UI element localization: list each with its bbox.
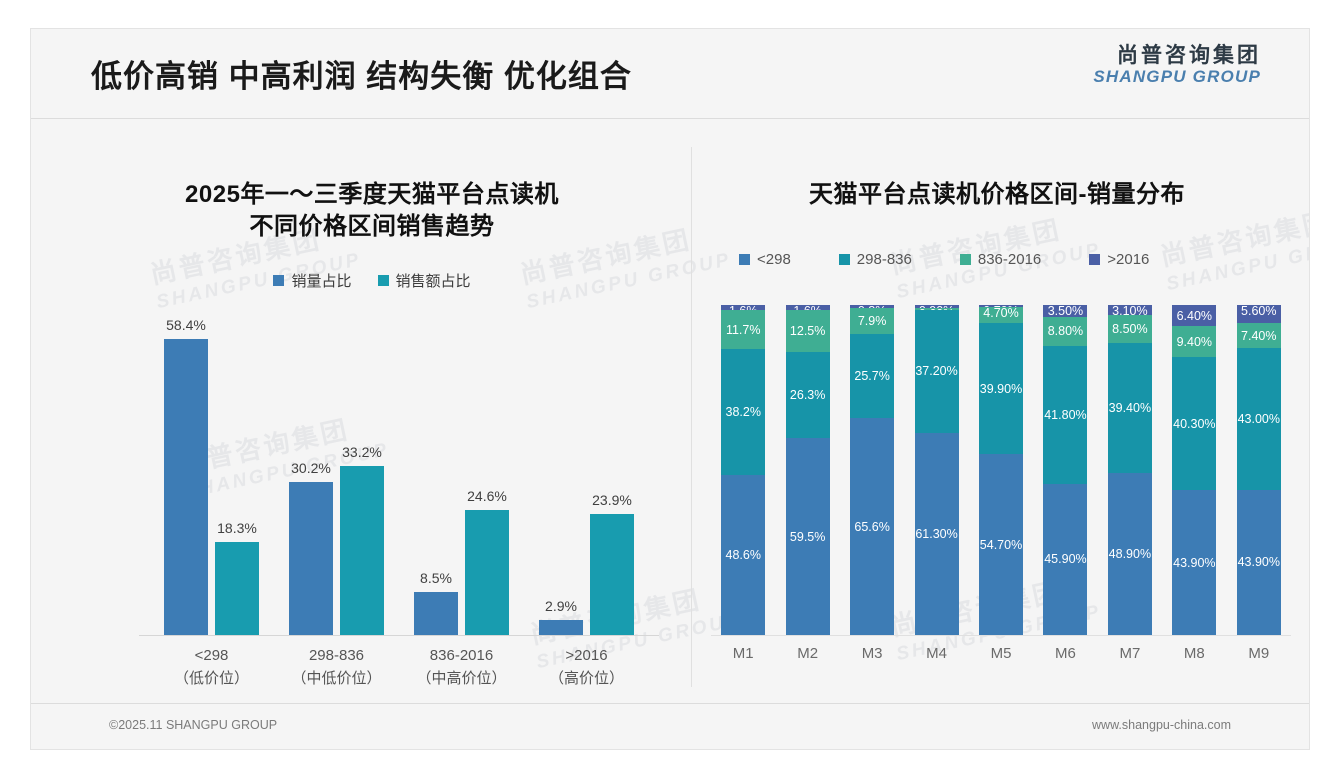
stack-segment-label: 4.70% bbox=[983, 306, 1018, 320]
legend-item[interactable]: 销量占比 bbox=[273, 270, 351, 291]
legend-label: 298-836 bbox=[857, 251, 912, 268]
stacked-bar-column[interactable]: 0.8%7.9%25.7%65.6% bbox=[850, 305, 894, 635]
legend-label: >2016 bbox=[1107, 251, 1149, 268]
brand-logo: 尚普咨询集团 SHANGPU GROUP bbox=[1093, 45, 1261, 86]
legend-swatch-icon bbox=[739, 254, 750, 265]
stack-segment-label: 43.00% bbox=[1238, 412, 1280, 426]
right-chart-panel: 天猫平台点读机价格区间-销量分布 <298298-836836-2016>201… bbox=[697, 125, 1297, 715]
x-axis-month-label: M2 bbox=[786, 645, 830, 662]
stacked-bar-column[interactable]: 1.6%11.7%38.2%48.6% bbox=[721, 305, 765, 635]
bar-group: 8.5%24.6% bbox=[399, 305, 524, 635]
stacked-bar-column[interactable]: 3.50%8.80%41.80%45.90% bbox=[1043, 305, 1087, 635]
legend-item[interactable]: <298 bbox=[739, 251, 791, 268]
stack-segment-label: 37.20% bbox=[915, 364, 957, 378]
bar-rect[interactable] bbox=[539, 620, 583, 635]
stack-segment[interactable]: 48.6% bbox=[721, 475, 765, 635]
bar-column[interactable]: 18.3% bbox=[215, 305, 259, 635]
stack-container: 3.50%8.80%41.80%45.90% bbox=[1043, 305, 1087, 635]
x-axis-month-label: M3 bbox=[850, 645, 894, 662]
legend-label: 836-2016 bbox=[978, 251, 1041, 268]
legend-swatch-icon bbox=[839, 254, 850, 265]
stack-segment[interactable]: 54.70% bbox=[979, 454, 1023, 635]
slide-canvas: 尚普咨询集团 SHANGPU GROUP 尚普咨询集团 SHANGPU GROU… bbox=[30, 28, 1310, 750]
stack-segment[interactable]: 8.50% bbox=[1108, 315, 1152, 343]
bar-column[interactable]: 8.5% bbox=[414, 305, 458, 635]
bar-value-label: 23.9% bbox=[592, 492, 632, 508]
stack-segment-label: 61.30% bbox=[915, 527, 957, 541]
stack-segment-label: 48.90% bbox=[1109, 547, 1151, 561]
x-axis-month-label: M4 bbox=[915, 645, 959, 662]
stack-segment[interactable]: 59.5% bbox=[786, 438, 830, 635]
x-axis-line bbox=[139, 635, 659, 636]
stack-segment[interactable]: 41.80% bbox=[1043, 346, 1087, 484]
stack-segment[interactable]: 3.50% bbox=[1043, 305, 1087, 317]
stack-segment-label: 7.40% bbox=[1241, 329, 1276, 343]
stack-segment[interactable]: 43.90% bbox=[1172, 490, 1216, 635]
slide-footer: ©2025.11 SHANGPU GROUP www.shangpu-china… bbox=[31, 703, 1309, 749]
stack-segment-label: 48.6% bbox=[725, 548, 760, 562]
x-axis-month-label: M7 bbox=[1108, 645, 1152, 662]
left-chart-panel: 2025年一～三季度天猫平台点读机 不同价格区间销售趋势 销量占比销售额占比 5… bbox=[57, 125, 687, 715]
footer-copyright: ©2025.11 SHANGPU GROUP bbox=[109, 718, 277, 732]
stack-segment[interactable]: 65.6% bbox=[850, 418, 894, 634]
bar-group: 58.4%18.3% bbox=[149, 305, 274, 635]
stacked-bar-chart: 1.6%11.7%38.2%48.6%1.6%12.5%26.3%59.5%0.… bbox=[697, 297, 1297, 715]
stack-segment[interactable]: 3.10% bbox=[1108, 305, 1152, 315]
stack-segment[interactable]: 5.60% bbox=[1237, 305, 1281, 323]
stack-segment-label: 65.6% bbox=[854, 520, 889, 534]
stacked-bar-plot-area: 1.6%11.7%38.2%48.6%1.6%12.5%26.3%59.5%0.… bbox=[711, 305, 1291, 635]
stack-segment[interactable]: 7.9% bbox=[850, 308, 894, 334]
bar-value-label: 24.6% bbox=[467, 488, 507, 504]
stack-segment-label: 41.80% bbox=[1044, 408, 1086, 422]
left-chart-legend: 销量占比销售额占比 bbox=[57, 270, 687, 291]
logo-english-text: SHANGPU GROUP bbox=[1093, 68, 1261, 86]
stack-segment[interactable]: 12.5% bbox=[786, 310, 830, 351]
stack-container: 0.90%0.60%37.20%61.30% bbox=[915, 305, 959, 635]
stack-segment-label: 39.40% bbox=[1109, 401, 1151, 415]
stack-segment-label: 43.90% bbox=[1173, 556, 1215, 570]
stack-segment[interactable]: 38.2% bbox=[721, 349, 765, 475]
bar-column[interactable]: 33.2% bbox=[340, 305, 384, 635]
stacked-bar-column[interactable]: 0.90%0.60%37.20%61.30% bbox=[915, 305, 959, 635]
x-axis-month-label: M1 bbox=[721, 645, 765, 662]
legend-swatch-icon bbox=[1089, 254, 1100, 265]
legend-swatch-icon bbox=[378, 275, 389, 286]
legend-label: 销量占比 bbox=[291, 270, 351, 291]
bar-column[interactable]: 2.9% bbox=[539, 305, 583, 635]
stacked-bar-column[interactable]: 0.70%4.70%39.90%54.70% bbox=[979, 305, 1023, 635]
bar-group: 2.9%23.9% bbox=[524, 305, 649, 635]
stack-segment-label: 59.5% bbox=[790, 530, 825, 544]
stacked-bar-column[interactable]: 3.10%8.50%39.40%48.90% bbox=[1108, 305, 1152, 635]
stack-segment[interactable]: 40.30% bbox=[1172, 357, 1216, 490]
page-title: 低价高销 中高利润 结构失衡 优化组合 bbox=[91, 51, 632, 96]
bar-value-label: 2.9% bbox=[545, 598, 577, 614]
x-axis-category-label: >2016（高价位） bbox=[512, 645, 662, 690]
stack-segment[interactable]: 45.90% bbox=[1043, 484, 1087, 635]
footer-website: www.shangpu-china.com bbox=[1092, 718, 1231, 732]
stack-segment-label: 45.90% bbox=[1044, 552, 1086, 566]
bar-rect[interactable] bbox=[340, 466, 384, 635]
stacked-bar-column[interactable]: 6.40%9.40%40.30%43.90% bbox=[1172, 305, 1216, 635]
x-axis-month-label: M6 bbox=[1043, 645, 1087, 662]
left-chart-title-line2: 不同价格区间销售趋势 bbox=[57, 211, 687, 243]
stacked-bar-column[interactable]: 5.60%7.40%43.00%43.90% bbox=[1237, 305, 1281, 635]
stack-container: 1.6%11.7%38.2%48.6% bbox=[721, 305, 765, 635]
stack-segment[interactable]: 11.7% bbox=[721, 310, 765, 349]
stack-segment[interactable]: 43.00% bbox=[1237, 348, 1281, 490]
x-axis-month-label: M5 bbox=[979, 645, 1023, 662]
stack-container: 1.6%12.5%26.3%59.5% bbox=[786, 305, 830, 635]
category-tier: （高价位） bbox=[512, 668, 662, 691]
stack-segment-label: 12.5% bbox=[790, 324, 825, 338]
stack-segment-label: 6.40% bbox=[1177, 309, 1212, 323]
stack-segment-label: 38.2% bbox=[725, 405, 760, 419]
bar-value-label: 58.4% bbox=[166, 317, 206, 333]
x-axis-month-label: M8 bbox=[1172, 645, 1216, 662]
bar-column[interactable]: 24.6% bbox=[465, 305, 509, 635]
stack-segment-label: 39.90% bbox=[980, 382, 1022, 396]
stack-segment[interactable]: 9.40% bbox=[1172, 326, 1216, 357]
legend-swatch-icon bbox=[960, 254, 971, 265]
bar-column[interactable]: 23.9% bbox=[590, 305, 634, 635]
legend-swatch-icon bbox=[273, 275, 284, 286]
bar-rect[interactable] bbox=[414, 592, 458, 635]
legend-item[interactable]: >2016 bbox=[1089, 251, 1149, 268]
bar-rect[interactable] bbox=[215, 542, 259, 635]
bar-rect[interactable] bbox=[590, 514, 634, 635]
legend-item[interactable]: 298-836 bbox=[839, 251, 912, 268]
right-chart-title: 天猫平台点读机价格区间-销量分布 bbox=[697, 125, 1297, 211]
bar-rect[interactable] bbox=[164, 339, 208, 635]
grouped-bar-plot-area: 58.4%18.3%30.2%33.2%8.5%24.6%2.9%23.9% bbox=[149, 305, 649, 635]
stack-segment[interactable]: 26.3% bbox=[786, 352, 830, 439]
stack-container: 6.40%9.40%40.30%43.90% bbox=[1172, 305, 1216, 635]
stack-segment-label: 43.90% bbox=[1238, 555, 1280, 569]
stack-segment[interactable]: 48.90% bbox=[1108, 473, 1152, 635]
stack-container: 5.60%7.40%43.00%43.90% bbox=[1237, 305, 1281, 635]
stack-segment-label: 26.3% bbox=[790, 388, 825, 402]
stack-segment[interactable]: 6.40% bbox=[1172, 305, 1216, 326]
slide-header: 低价高销 中高利润 结构失衡 优化组合 尚普咨询集团 SHANGPU GROUP bbox=[31, 29, 1309, 119]
stack-segment[interactable]: 7.40% bbox=[1237, 323, 1281, 347]
stack-container: 3.10%8.50%39.40%48.90% bbox=[1108, 305, 1152, 635]
legend-label: 销售额占比 bbox=[396, 270, 471, 291]
stacked-bar-column[interactable]: 1.6%12.5%26.3%59.5% bbox=[786, 305, 830, 635]
bar-group: 30.2%33.2% bbox=[274, 305, 399, 635]
stack-segment-label: 9.40% bbox=[1177, 335, 1212, 349]
x-axis-month-label: M9 bbox=[1237, 645, 1281, 662]
bar-value-label: 30.2% bbox=[291, 460, 331, 476]
bar-column[interactable]: 30.2% bbox=[289, 305, 333, 635]
stack-segment[interactable]: 39.40% bbox=[1108, 343, 1152, 473]
stack-segment[interactable]: 43.90% bbox=[1237, 490, 1281, 635]
bar-value-label: 8.5% bbox=[420, 570, 452, 586]
stack-segment[interactable]: 25.7% bbox=[850, 334, 894, 419]
bar-rect[interactable] bbox=[465, 510, 509, 635]
left-chart-title: 2025年一～三季度天猫平台点读机 不同价格区间销售趋势 bbox=[57, 125, 687, 244]
bar-value-label: 18.3% bbox=[217, 520, 257, 536]
category-range: >2016 bbox=[512, 645, 662, 668]
right-chart-legend: <298298-836836-2016>2016 bbox=[697, 251, 1297, 268]
stack-segment-label: 7.9% bbox=[858, 314, 887, 328]
bar-value-label: 33.2% bbox=[342, 444, 382, 460]
bar-column[interactable]: 58.4% bbox=[164, 305, 208, 635]
legend-item[interactable]: 836-2016 bbox=[960, 251, 1041, 268]
stack-container: 0.70%4.70%39.90%54.70% bbox=[979, 305, 1023, 635]
stack-segment[interactable]: 39.90% bbox=[979, 323, 1023, 455]
stack-segment-label: 8.50% bbox=[1112, 322, 1147, 336]
left-chart-title-line1: 2025年一～三季度天猫平台点读机 bbox=[57, 179, 687, 211]
stack-segment[interactable]: 8.80% bbox=[1043, 317, 1087, 346]
stack-container: 0.8%7.9%25.7%65.6% bbox=[850, 305, 894, 635]
bar-rect[interactable] bbox=[289, 482, 333, 635]
stack-segment[interactable]: 61.30% bbox=[915, 433, 959, 635]
stack-segment-label: 40.30% bbox=[1173, 417, 1215, 431]
stack-segment-label: 8.80% bbox=[1048, 324, 1083, 338]
stack-segment-label: 11.7% bbox=[726, 323, 761, 337]
stack-segment-label: 5.60% bbox=[1241, 304, 1276, 318]
x-axis-line bbox=[711, 635, 1291, 636]
legend-label: <298 bbox=[757, 251, 791, 268]
legend-item[interactable]: 销售额占比 bbox=[378, 270, 471, 291]
logo-chinese-text: 尚普咨询集团 bbox=[1093, 45, 1261, 68]
stack-segment-label: 54.70% bbox=[980, 538, 1022, 552]
stack-segment[interactable]: 37.20% bbox=[915, 310, 959, 433]
grouped-bar-chart: 58.4%18.3%30.2%33.2%8.5%24.6%2.9%23.9% <… bbox=[57, 297, 687, 715]
panel-divider bbox=[691, 147, 692, 687]
stack-segment-label: 25.7% bbox=[854, 369, 889, 383]
stack-segment[interactable]: 4.70% bbox=[979, 307, 1023, 323]
